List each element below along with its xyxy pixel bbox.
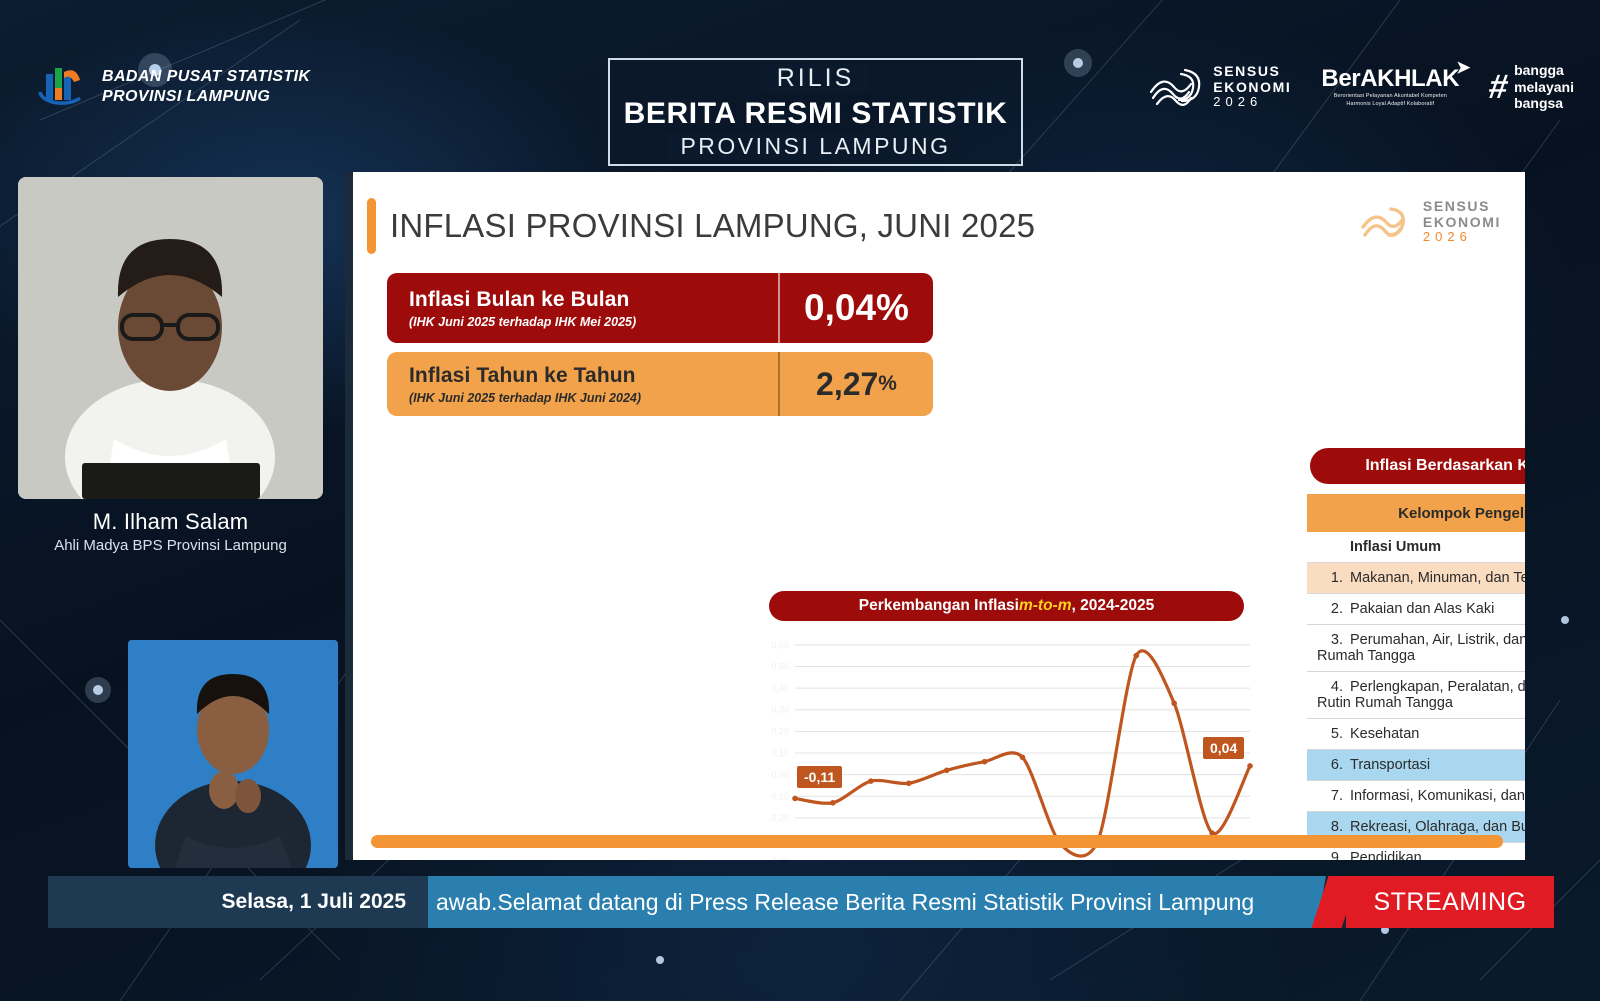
sign-language-video-tile[interactable] <box>128 640 338 868</box>
chart-point-label-last: 0,04 <box>1203 737 1244 759</box>
table-body: Inflasi Umum0,040,041.Makanan, Minuman, … <box>1307 532 1525 860</box>
frame-right <box>1009 58 1023 166</box>
line-chart-svg: -0,40-0,30-0,20-0,100,000,100,200,300,40… <box>749 624 1264 860</box>
berakhlak-caret-icon: ➤ <box>1456 58 1470 78</box>
bps-logo-text: BADAN PUSAT STATISTIK PROVINSI LAMPUNG <box>102 67 310 107</box>
chart-y-axis-labels: -0,40-0,30-0,20-0,100,000,100,200,300,40… <box>768 640 789 860</box>
speaker-panel: M. Ilham Salam Ahli Madya BPS Provinsi L… <box>18 177 323 554</box>
metric-card-text: Inflasi Tahun ke Tahun (IHK Juni 2025 te… <box>387 352 778 416</box>
header-logo-group: SENSUS EKONOMI 2026 BerAKHLAK ➤ Berorien… <box>1147 62 1574 112</box>
sensus-word-1: SENSUS <box>1213 63 1291 79</box>
sensus-ekonomi-icon <box>1147 64 1205 110</box>
row-number: 3. <box>1317 632 1343 648</box>
table-row: 2.Pakaian dan Alas Kaki-0,19-0,01 <box>1307 594 1525 625</box>
svg-text:-0,40: -0,40 <box>768 856 789 860</box>
cell-group-name: 2.Pakaian dan Alas Kaki <box>1307 594 1525 625</box>
row-number: 4. <box>1317 679 1343 695</box>
cell-group-name: 5.Kesehatan <box>1307 719 1525 750</box>
berakhlak-sub-1: Berorientasi Pelayanan Akuntabel Kompete… <box>1321 93 1459 100</box>
table-row: 1.Makanan, Minuman, dan Tembakau0,100,03 <box>1307 563 1525 594</box>
speaker-portrait <box>18 177 323 499</box>
table-row: 4.Perlengkapan, Peralatan, dan Pemelihar… <box>1307 672 1525 719</box>
svg-text:0,20: 0,20 <box>771 726 789 736</box>
berakhlak-text: BerAKHLAK <box>1321 65 1459 92</box>
svg-text:0,00: 0,00 <box>771 770 789 780</box>
slide-title: INFLASI PROVINSI LAMPUNG, JUNI 2025 <box>390 207 1035 245</box>
chart-data-point <box>868 778 874 784</box>
sensus-ekonomi-logo: SENSUS EKONOMI 2026 <box>1147 63 1291 110</box>
bps-line-2: PROVINSI LAMPUNG <box>102 87 310 107</box>
column-header-group: Kelompok Pengeluaran <box>1307 494 1525 532</box>
metric-subtitle: (IHK Juni 2025 terhadap IHK Juni 2024) <box>409 391 778 405</box>
chart-data-point <box>906 780 912 786</box>
chart-gridlines <box>795 645 1250 860</box>
chart-title-pre: Perkembangan Inflasi <box>859 597 1019 615</box>
release-title-main: BERITA RESMI STATISTIK <box>624 97 1008 131</box>
chart-point-label-first: -0,11 <box>797 766 842 788</box>
bps-logo-icon <box>34 62 88 112</box>
presentation-slide: INFLASI PROVINSI LAMPUNG, JUNI 2025 SENS… <box>345 172 1525 860</box>
bangga-line-1: bangga <box>1514 62 1574 79</box>
speaker-name: M. Ilham Salam <box>18 509 323 535</box>
slide-sensus-word-2: EKONOMI <box>1423 214 1501 230</box>
svg-text:0,10: 0,10 <box>771 748 789 758</box>
speaker-video-tile[interactable] <box>18 177 323 499</box>
streaming-status-badge: STREAMING <box>1346 876 1554 928</box>
slide-sensus-word-1: SENSUS <box>1423 198 1501 214</box>
chart-data-point <box>1020 755 1026 761</box>
berakhlak-sub-2: Harmonis Loyal Adaptif Kolaboratif <box>1321 101 1459 108</box>
table-row: 3.Perumahan, Air, Listrik, dan Bahan Bak… <box>1307 625 1525 672</box>
chart-title-post: , 2024-2025 <box>1072 597 1155 615</box>
frame-left <box>608 58 622 166</box>
hash-icon: # <box>1487 70 1511 104</box>
berakhlak-wordmark: BerAKHLAK ➤ <box>1321 65 1459 93</box>
metric-value: 2,27% <box>778 352 933 416</box>
svg-text:0,40: 0,40 <box>771 683 789 693</box>
metric-card-text: Inflasi Bulan ke Bulan (IHK Juni 2025 te… <box>387 273 778 343</box>
slide-sensus-year: 2026 <box>1423 230 1501 245</box>
release-subtitle: PROVINSI LAMPUNG <box>666 133 964 160</box>
table-title-pill: Inflasi Berdasarkan Kelompok Pengeluaran… <box>1310 448 1525 484</box>
ticker-date: Selasa, 1 Juli 2025 <box>48 876 428 928</box>
ticker-message: awab.Selamat datang di Press Release Ber… <box>428 876 1346 928</box>
svg-text:-0,20: -0,20 <box>768 813 789 823</box>
metric-value: 0,04% <box>778 273 933 343</box>
cell-group-name: 1.Makanan, Minuman, dan Tembakau <box>1307 563 1525 594</box>
metric-value-number: 2,27 <box>816 366 878 403</box>
table-row: 5.Kesehatan0,08~0 <box>1307 719 1525 750</box>
metric-card-month-to-month: Inflasi Bulan ke Bulan (IHK Juni 2025 te… <box>387 273 933 343</box>
metric-subtitle: (IHK Juni 2025 terhadap IHK Mei 2025) <box>409 315 778 329</box>
slide-sensus-wordmark: SENSUS EKONOMI 2026 <box>1423 198 1501 245</box>
chart-data-point <box>1247 763 1253 769</box>
slide-left-accent <box>345 172 353 860</box>
berakhlak-logo: BerAKHLAK ➤ Berorientasi Pelayanan Akunt… <box>1321 65 1459 108</box>
sensus-year: 2026 <box>1213 95 1291 110</box>
row-number: 6. <box>1317 757 1343 773</box>
chart-data-point <box>944 768 950 774</box>
sign-language-interpreter <box>128 640 338 868</box>
metric-title: Inflasi Tahun ke Tahun <box>409 364 778 388</box>
speaker-caption: M. Ilham Salam Ahli Madya BPS Provinsi L… <box>18 509 323 554</box>
sensus-ekonomi-icon <box>1357 199 1415 245</box>
row-number: 1. <box>1317 570 1343 586</box>
sensus-word-2: EKONOMI <box>1213 79 1291 95</box>
bps-line-1: BADAN PUSAT STATISTIK <box>102 67 310 87</box>
table-row: 6.Transportasi-0,24-0,03 <box>1307 750 1525 781</box>
inflation-line-chart: -0,40-0,30-0,20-0,100,000,100,200,300,40… <box>749 624 1264 860</box>
cell-group-name: Inflasi Umum <box>1307 532 1525 563</box>
svg-text:0,60: 0,60 <box>771 640 789 650</box>
bottom-ticker: Selasa, 1 Juli 2025 awab.Selamat datang … <box>48 876 1554 928</box>
slide-title-row: INFLASI PROVINSI LAMPUNG, JUNI 2025 <box>367 198 1035 254</box>
table-title-pre: Inflasi Berdasarkan Kelompok Pengeluaran… <box>1365 457 1525 475</box>
speaker-role: Ahli Madya BPS Provinsi Lampung <box>18 537 323 554</box>
cell-group-name: 3.Perumahan, Air, Listrik, dan Bahan Bak… <box>1307 625 1525 672</box>
table-header-row: Kelompok Pengeluaran Inflasi Andil Infla… <box>1307 494 1525 532</box>
table-row: 7.Informasi, Komunikasi, dan Jasa Keuang… <box>1307 781 1525 812</box>
row-number: 7. <box>1317 788 1343 804</box>
chart-data-point <box>792 796 798 802</box>
table-row: Inflasi Umum0,040,04 <box>1307 532 1525 563</box>
bangga-melayani-bangsa-logo: # bangga melayani bangsa <box>1489 62 1574 112</box>
chart-data-point <box>982 759 988 765</box>
metric-title: Inflasi Bulan ke Bulan <box>409 288 778 312</box>
bps-logo-block: BADAN PUSAT STATISTIK PROVINSI LAMPUNG <box>34 62 310 112</box>
svg-text:-0,10: -0,10 <box>768 791 789 801</box>
svg-text:0,30: 0,30 <box>771 705 789 715</box>
chart-title-pill: Perkembangan Inflasi m-to-m, 2024-2025 <box>769 591 1244 621</box>
metric-value-unit: % <box>878 372 897 396</box>
row-number: 8. <box>1317 819 1343 835</box>
streaming-label: STREAMING <box>1373 888 1526 917</box>
chart-data-point <box>830 800 836 806</box>
bangga-line-2: melayani <box>1514 79 1574 96</box>
cell-group-name: 6.Transportasi <box>1307 750 1525 781</box>
row-number: 9. <box>1317 850 1343 860</box>
cell-group-name: 7.Informasi, Komunikasi, dan Jasa Keuang… <box>1307 781 1525 812</box>
bangga-line-3: bangsa <box>1514 95 1574 112</box>
release-title-block: RILIS BERITA RESMI STATISTIK PROVINSI LA… <box>608 58 1023 166</box>
cell-group-name: 4.Perlengkapan, Peralatan, dan Pemelihar… <box>1307 672 1525 719</box>
row-number: 5. <box>1317 726 1343 742</box>
chart-title-emphasis: m-to-m <box>1019 597 1072 615</box>
metric-card-year-to-year: Inflasi Tahun ke Tahun (IHK Juni 2025 te… <box>387 352 933 416</box>
table-header: Kelompok Pengeluaran Inflasi Andil Infla… <box>1307 494 1525 532</box>
chart-data-point <box>1133 653 1139 659</box>
sensus-ekonomi-wordmark: SENSUS EKONOMI 2026 <box>1213 63 1291 110</box>
chart-data-point <box>1171 700 1177 706</box>
expenditure-group-table: Kelompok Pengeluaran Inflasi Andil Infla… <box>1307 494 1525 860</box>
slide-bottom-accent-bar <box>371 835 1503 848</box>
bangga-wordmark: bangga melayani bangsa <box>1514 62 1574 112</box>
slide-title-accent-bar <box>367 198 376 254</box>
slide-sensus-logo: SENSUS EKONOMI 2026 <box>1357 198 1501 245</box>
svg-text:0,50: 0,50 <box>771 661 789 671</box>
release-kicker: RILIS <box>761 64 871 93</box>
page-header: BADAN PUSAT STATISTIK PROVINSI LAMPUNG R… <box>0 0 1600 175</box>
row-number: 2. <box>1317 601 1343 617</box>
